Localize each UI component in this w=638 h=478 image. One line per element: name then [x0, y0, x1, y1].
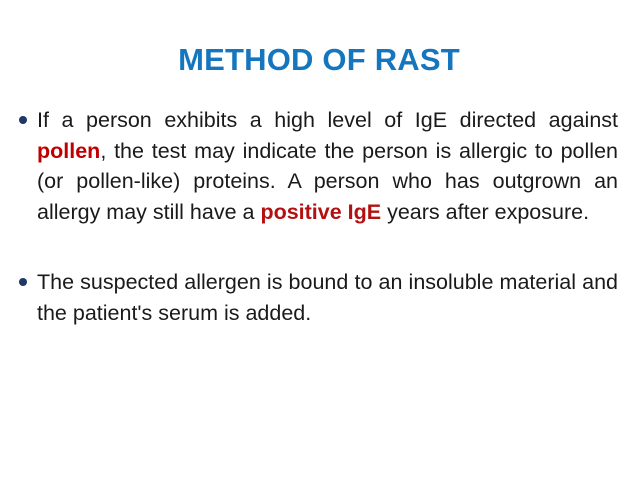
bullet-1-text-part-1: If a person exhibits a high level of IgE…	[37, 108, 618, 132]
round-bullet-icon	[19, 116, 27, 124]
slide-canvas: METHOD OF RAST If a person exhibits a hi…	[0, 0, 638, 478]
highlight-pollen: pollen	[37, 139, 100, 163]
bullet-paragraph-1: If a person exhibits a high level of IgE…	[17, 105, 618, 227]
bullet-2-text: The suspected allergen is bound to an in…	[37, 270, 618, 325]
bullet-paragraph-2: The suspected allergen is bound to an in…	[17, 267, 618, 328]
paragraph-spacer	[17, 227, 618, 267]
page-title: METHOD OF RAST	[0, 44, 638, 77]
bullet-1-text-part-3: years after exposure.	[381, 200, 589, 224]
highlight-positive-ige: positive IgE	[260, 200, 381, 224]
round-bullet-icon	[19, 278, 27, 286]
slide-body: If a person exhibits a high level of IgE…	[17, 105, 618, 328]
